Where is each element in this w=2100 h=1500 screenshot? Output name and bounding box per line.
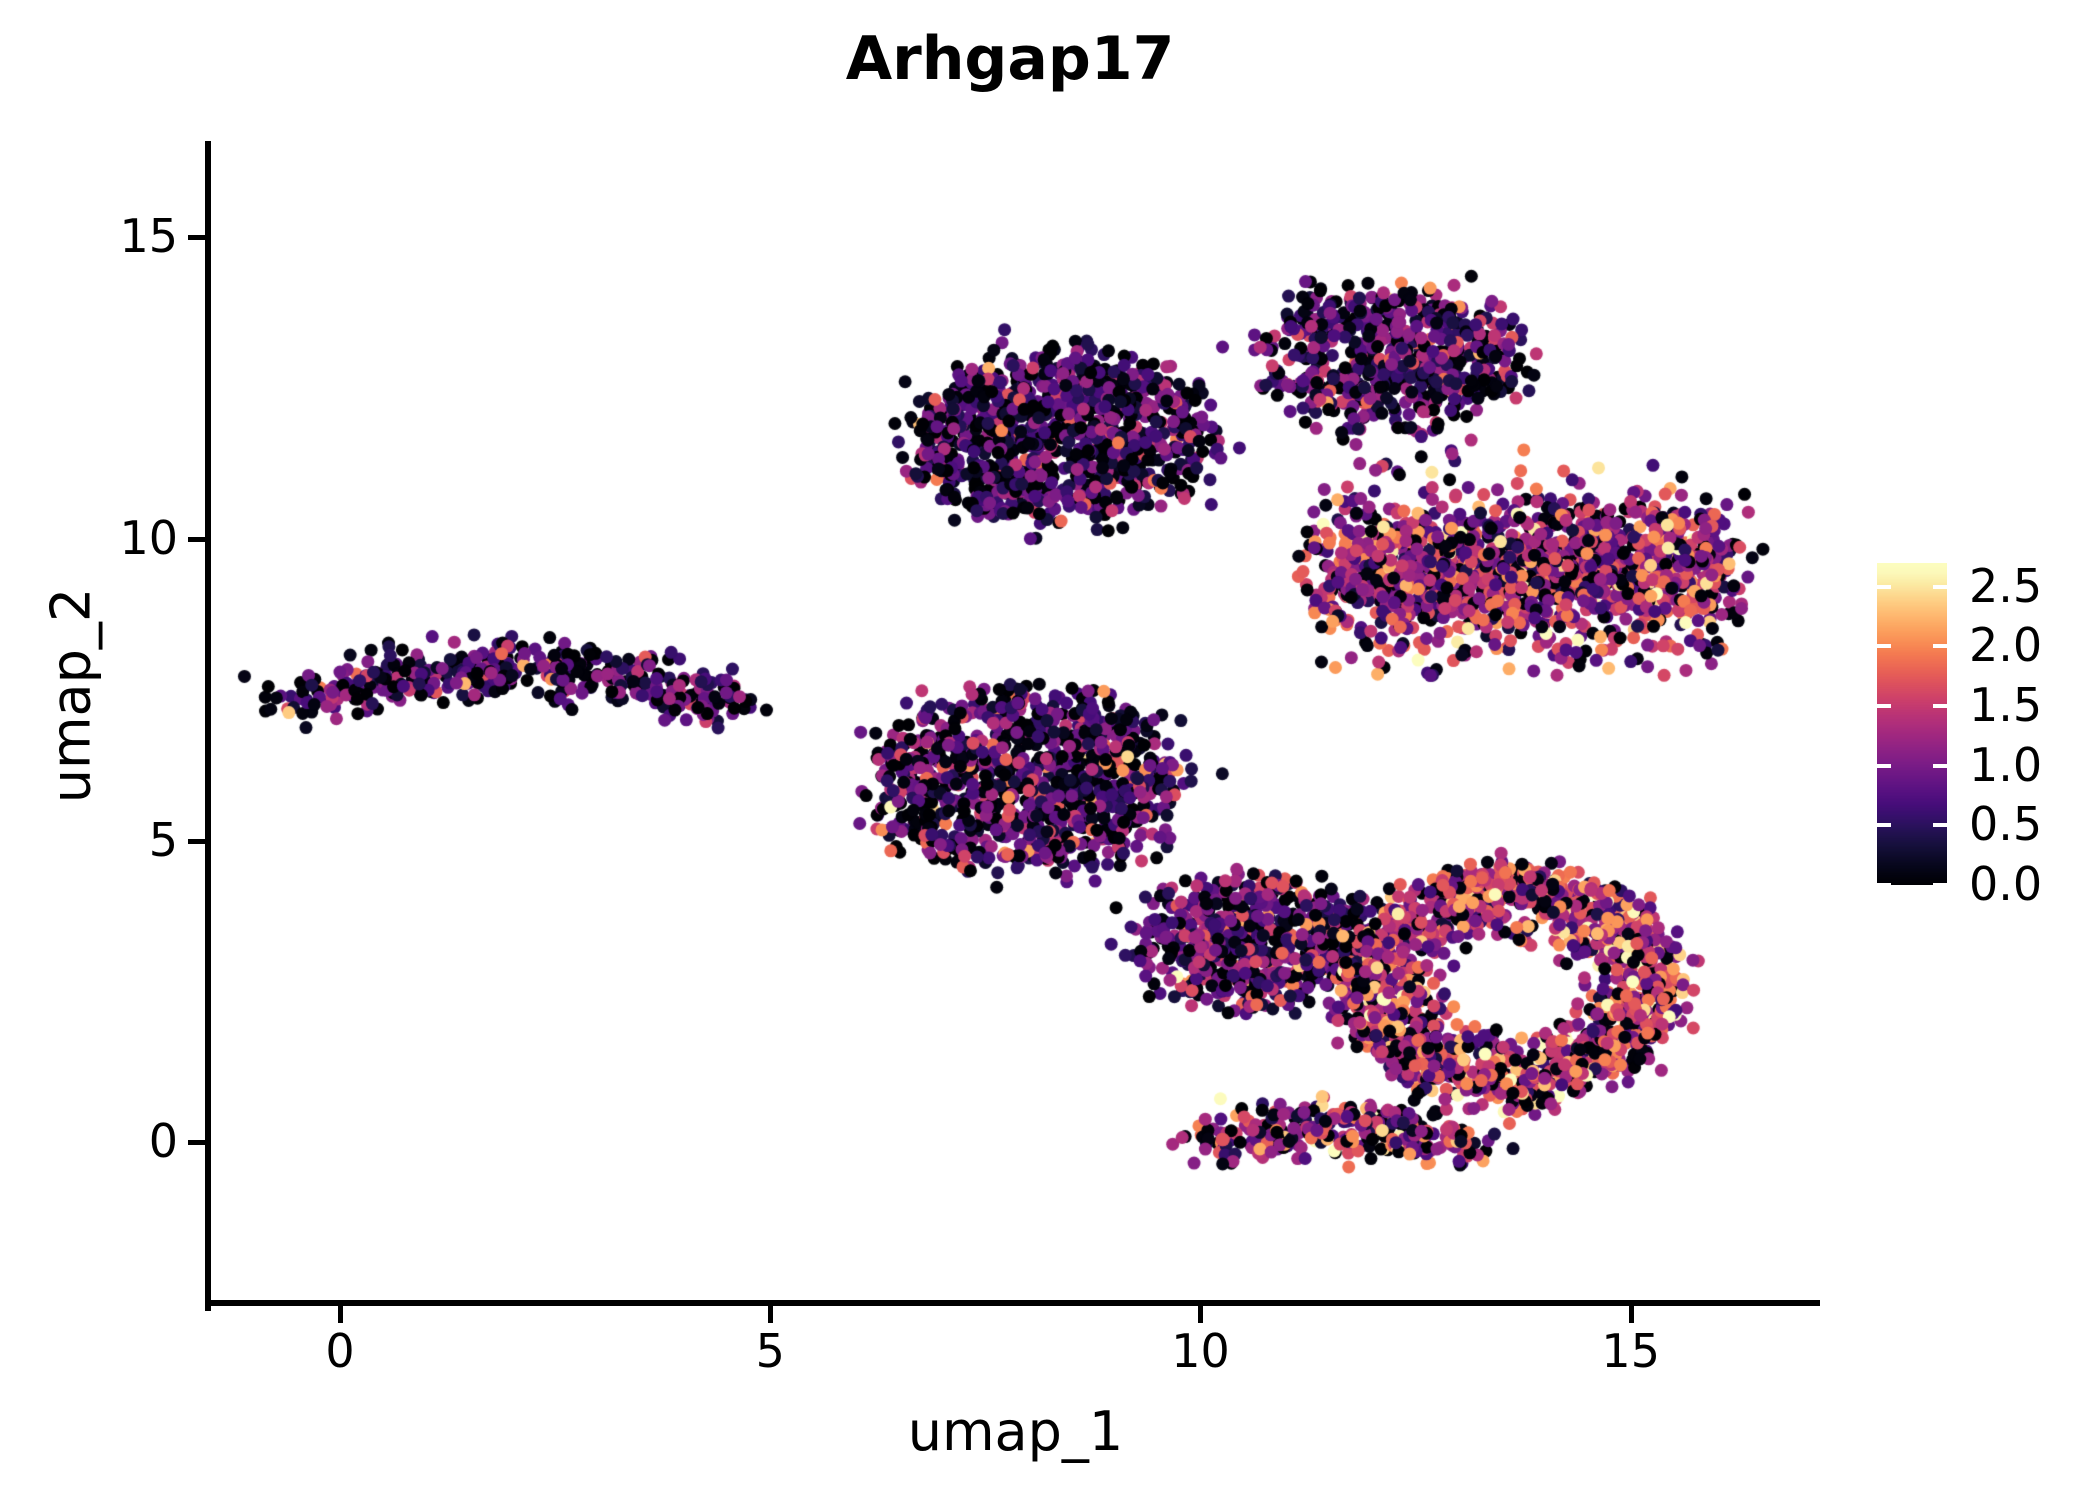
x-tick-label: 15: [1551, 1328, 1711, 1374]
colorbar-tick-mark: [1877, 764, 1891, 768]
colorbar-tick-label: 1.5: [1969, 682, 2042, 728]
colorbar-tick-label: 2.0: [1969, 622, 2042, 668]
x-tick-label: 0: [260, 1328, 420, 1374]
colorbar-tick-mark: [1933, 704, 1947, 708]
x-tick-mark: [1198, 1306, 1203, 1323]
page-title: Arhgap17: [0, 24, 2020, 94]
x-axis-label: umap_1: [211, 1400, 1820, 1463]
colorbar-tick-mark: [1877, 704, 1891, 708]
colorbar-tick-label: 1.0: [1969, 742, 2042, 788]
colorbar-tick-mark: [1933, 644, 1947, 648]
x-tick-mark: [1629, 1306, 1634, 1323]
colorbar-tick-mark: [1933, 883, 1947, 887]
colorbar-tick-mark: [1877, 644, 1891, 648]
colorbar-tick-mark: [1933, 764, 1947, 768]
y-tick-mark: [188, 1140, 205, 1145]
y-tick-mark: [188, 537, 205, 542]
colorbar-tick-mark: [1933, 585, 1947, 589]
y-tick-label: 15: [18, 213, 178, 259]
colorbar-tick-mark: [1933, 823, 1947, 827]
x-axis-spine: [205, 1300, 1820, 1306]
umap-figure: Arhgap17 051015 051015 umap_1 umap_2 0.0…: [0, 0, 2100, 1500]
y-tick-mark: [188, 839, 205, 844]
y-tick-mark: [188, 235, 205, 240]
colorbar-tick-label: 2.5: [1969, 563, 2042, 609]
colorbar-tick-label: 0.5: [1969, 801, 2042, 847]
colorbar-gradient: [1877, 563, 1947, 885]
colorbar-tick-mark: [1877, 585, 1891, 589]
colorbar-tick-label: 0.0: [1969, 861, 2042, 907]
scatter-plot-canvas: [211, 141, 1820, 1305]
x-tick-label: 10: [1120, 1328, 1280, 1374]
plot-axes: [211, 141, 1820, 1305]
colorbar: [1877, 563, 1947, 885]
y-axis-spine: [205, 141, 211, 1311]
y-axis-label: umap_2: [40, 346, 103, 1046]
x-tick-label: 5: [690, 1328, 850, 1374]
colorbar-tick-mark: [1877, 883, 1891, 887]
y-tick-label: 0: [18, 1118, 178, 1164]
colorbar-tick-mark: [1877, 823, 1891, 827]
x-tick-mark: [768, 1306, 773, 1323]
x-tick-mark: [338, 1306, 343, 1323]
